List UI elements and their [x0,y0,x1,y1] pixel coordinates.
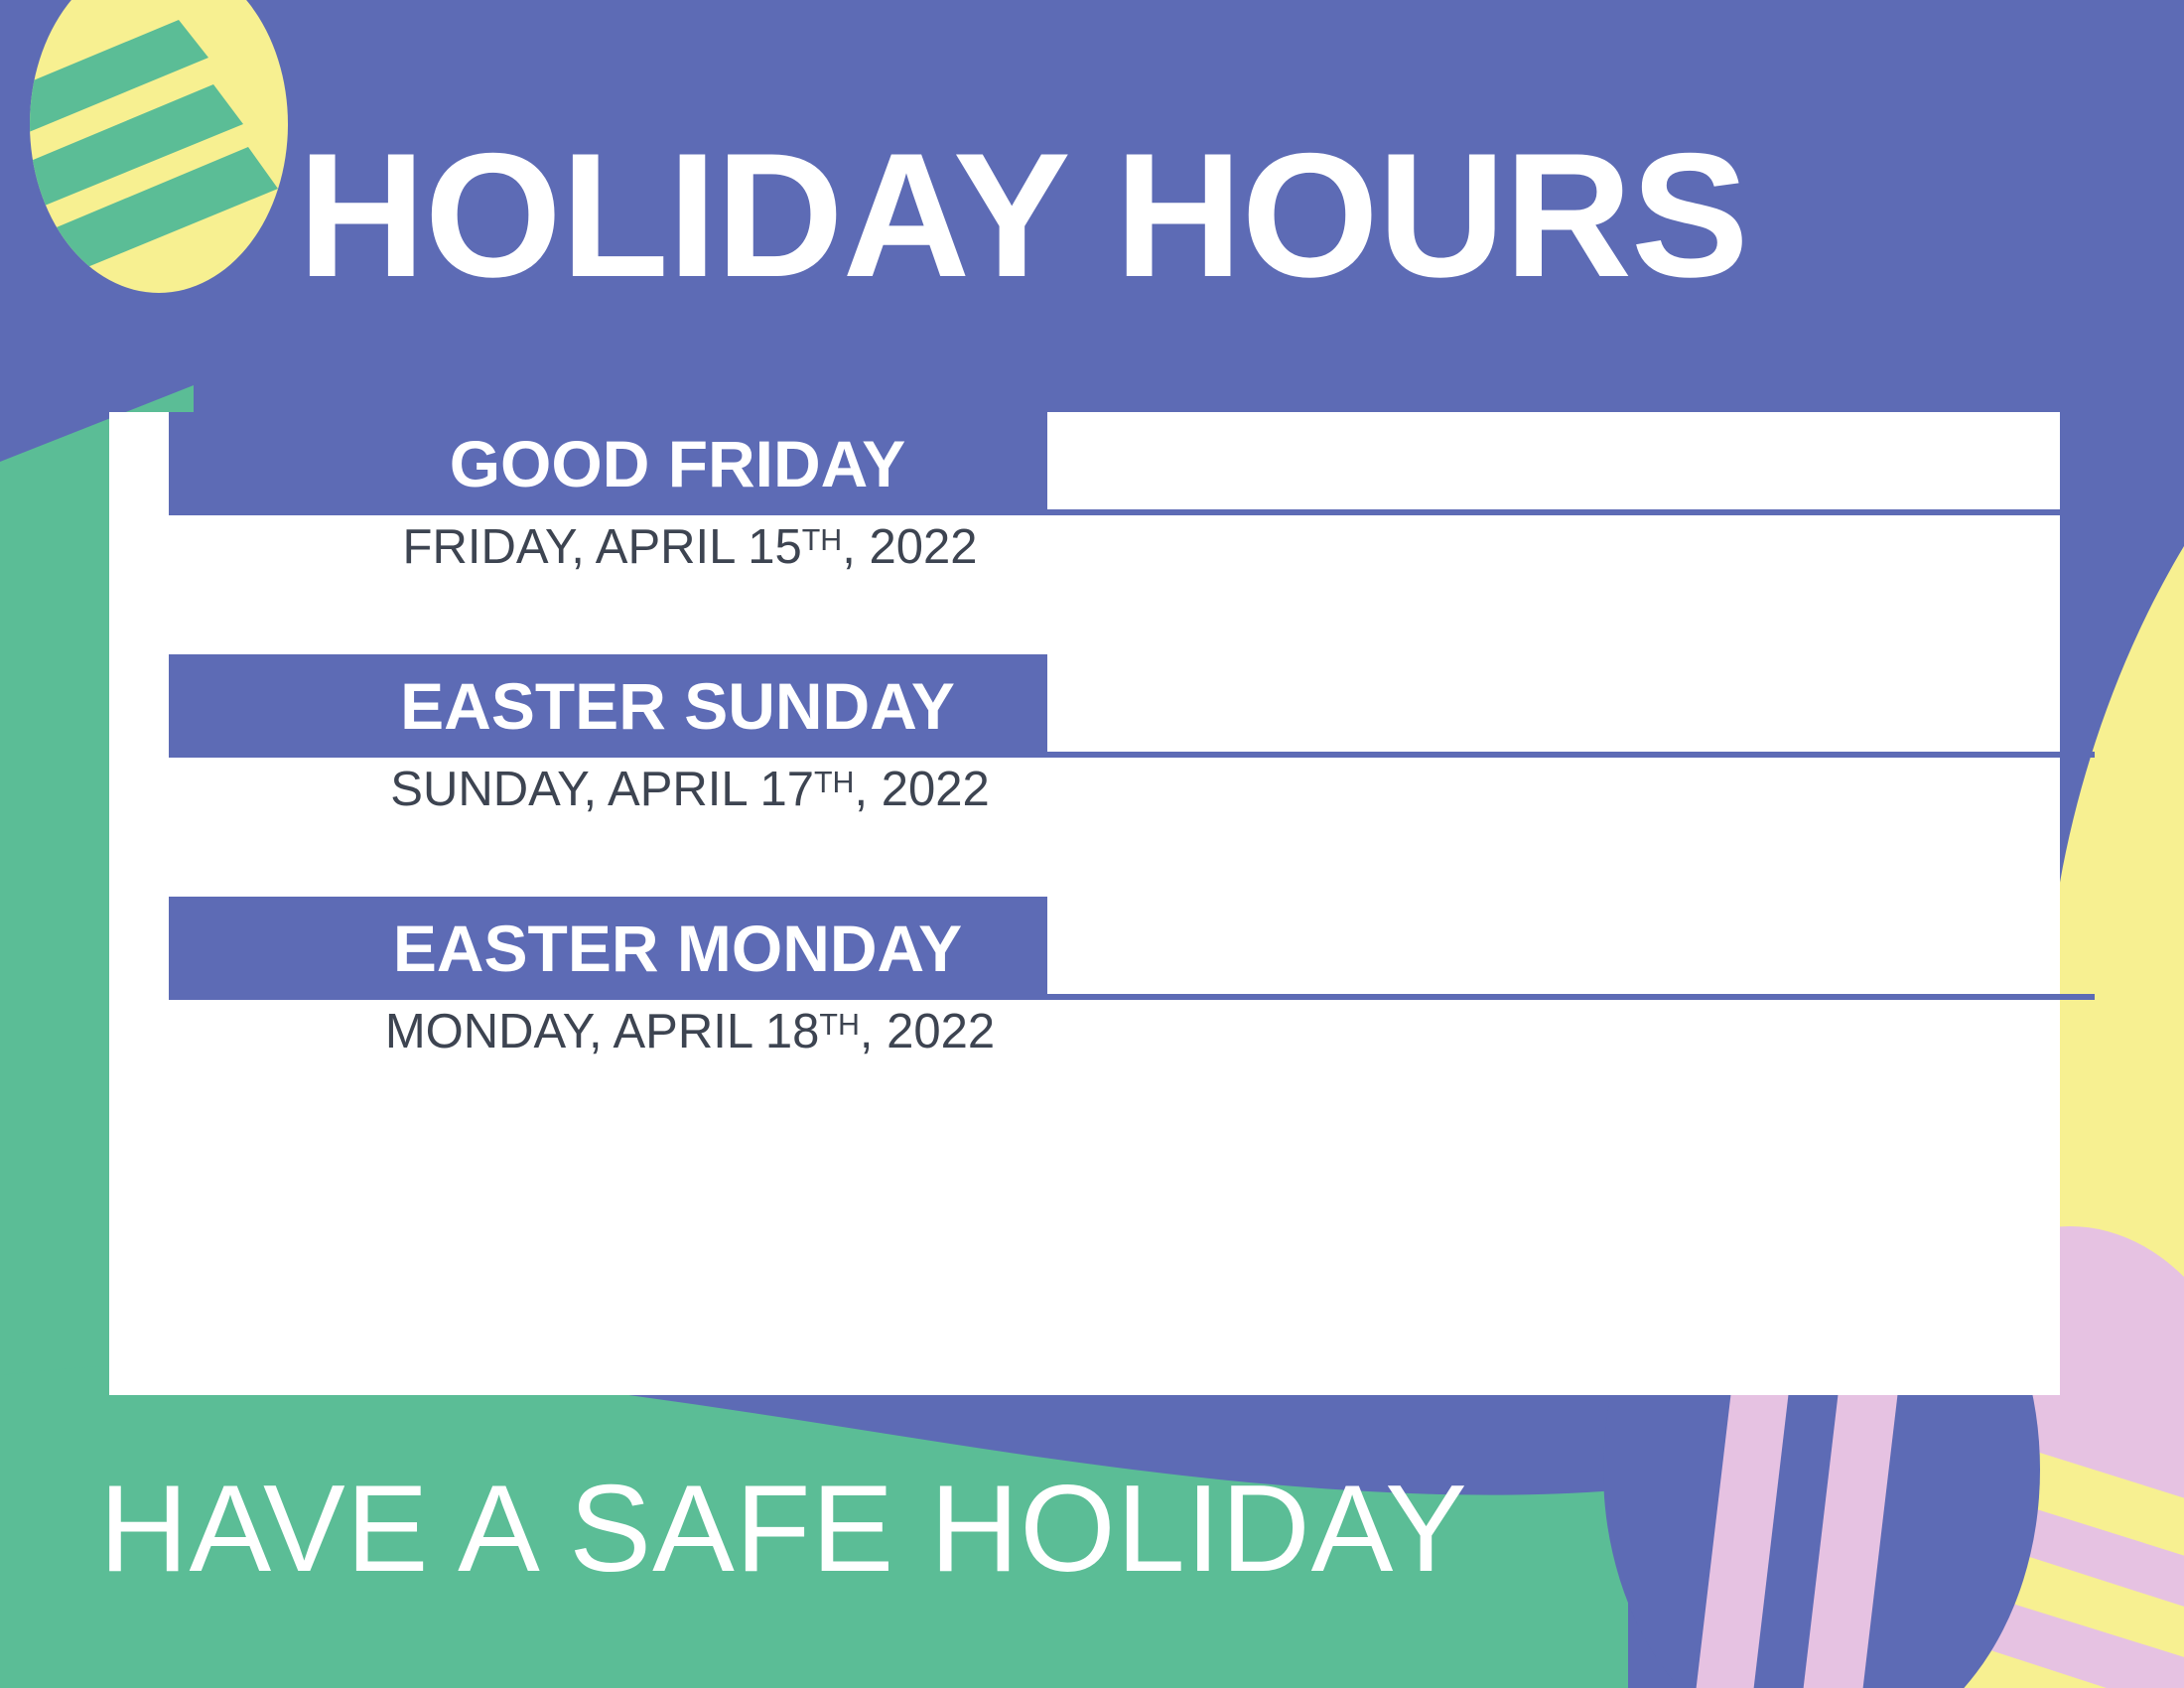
event-date-ordinal: TH [814,766,855,799]
event-date-ordinal: TH [819,1008,860,1042]
event-date-suffix: , 2022 [842,520,977,574]
event-row: EASTER SUNDAY SUNDAY, APRIL 17TH, 2022 [169,654,2060,758]
event-date-suffix: , 2022 [860,1005,995,1058]
event-row: GOOD FRIDAY FRIDAY, APRIL 15TH, 2022 [169,412,2060,515]
event-hours-rule [1047,752,2095,758]
event-name-banner: EASTER MONDAY [169,897,1047,1000]
event-date: MONDAY, APRIL 18TH, 2022 [313,1008,1067,1056]
event-row: EASTER MONDAY MONDAY, APRIL 18TH, 2022 [169,897,2060,1000]
event-name-banner: GOOD FRIDAY [169,412,1047,515]
event-date-prefix: MONDAY, APRIL 18 [385,1005,820,1058]
schedule-card: GOOD FRIDAY FRIDAY, APRIL 15TH, 2022 EAS… [109,412,2060,1395]
event-name-banner: EASTER SUNDAY [169,654,1047,758]
event-date-ordinal: TH [802,523,843,557]
event-date-prefix: FRIDAY, APRIL 15 [403,520,802,574]
event-name: EASTER SUNDAY [400,673,955,739]
event-hours-rule [1047,994,2095,1000]
event-name: EASTER MONDAY [393,915,962,981]
footer-message: HAVE A SAFE HOLIDAY [99,1468,1468,1591]
event-date-suffix: , 2022 [854,763,989,816]
event-hours-rule [1047,509,2095,515]
event-date-prefix: SUNDAY, APRIL 17 [390,763,814,816]
event-name: GOOD FRIDAY [450,431,906,496]
page-title: HOLIDAY HOURS [298,127,1985,304]
event-date: FRIDAY, APRIL 15TH, 2022 [313,523,1067,572]
event-date: SUNDAY, APRIL 17TH, 2022 [313,766,1067,814]
holiday-hours-poster: HOLIDAY HOURS GOOD FRIDAY FRIDAY, APRIL … [0,0,2184,1688]
